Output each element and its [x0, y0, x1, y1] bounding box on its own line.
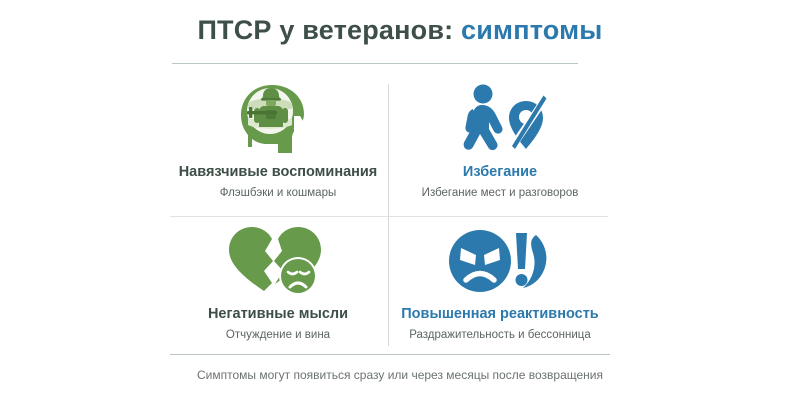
page-title-accent: симптомы — [461, 15, 603, 45]
page-title: ПТСР у ветеранов: симптомы — [0, 16, 800, 46]
angry-face-exclamation-moon-icon — [448, 224, 552, 298]
symptom-title: Избегание — [463, 164, 537, 181]
page-title-main: ПТСР у ветеранов: — [197, 15, 453, 45]
symptom-subtitle: Избегание мест и разговоров — [422, 187, 579, 201]
grid-divider-vertical — [388, 84, 389, 346]
walking-person-no-place-icon — [453, 82, 547, 156]
symptom-card-negative-thoughts[interactable]: Негативные мысли Отчуждение и вина — [170, 218, 386, 354]
footer-divider — [170, 354, 610, 355]
head-soldier-memory-icon — [234, 82, 322, 156]
symptom-title: Навязчивые воспоминания — [179, 164, 378, 181]
symptom-title: Негативные мысли — [208, 306, 348, 323]
symptom-subtitle: Отчуждение и вина — [226, 329, 330, 343]
symptom-title: Повышенная реактивность — [401, 306, 598, 323]
symptom-grid: Навязчивые воспоминания Флэшбэки и кошма… — [170, 78, 610, 350]
symptom-card-hyperarousal[interactable]: Повышенная реактивность Раздражительност… — [392, 218, 608, 354]
footer-note: Симптомы могут появиться сразу или через… — [0, 368, 800, 382]
title-divider — [172, 63, 578, 64]
ptsd-symptoms-infographic: ПТСР у ветеранов: симптомы — [0, 0, 800, 400]
broken-heart-sad-face-icon — [226, 224, 330, 298]
symptom-card-intrusive-memories[interactable]: Навязчивые воспоминания Флэшбэки и кошма… — [170, 78, 386, 214]
symptom-card-avoidance[interactable]: Избегание Избегание мест и разговоров — [392, 78, 608, 214]
symptom-subtitle: Флэшбэки и кошмары — [220, 187, 337, 201]
symptom-subtitle: Раздражительность и бессонница — [409, 329, 591, 343]
grid-divider-horizontal — [170, 216, 608, 217]
